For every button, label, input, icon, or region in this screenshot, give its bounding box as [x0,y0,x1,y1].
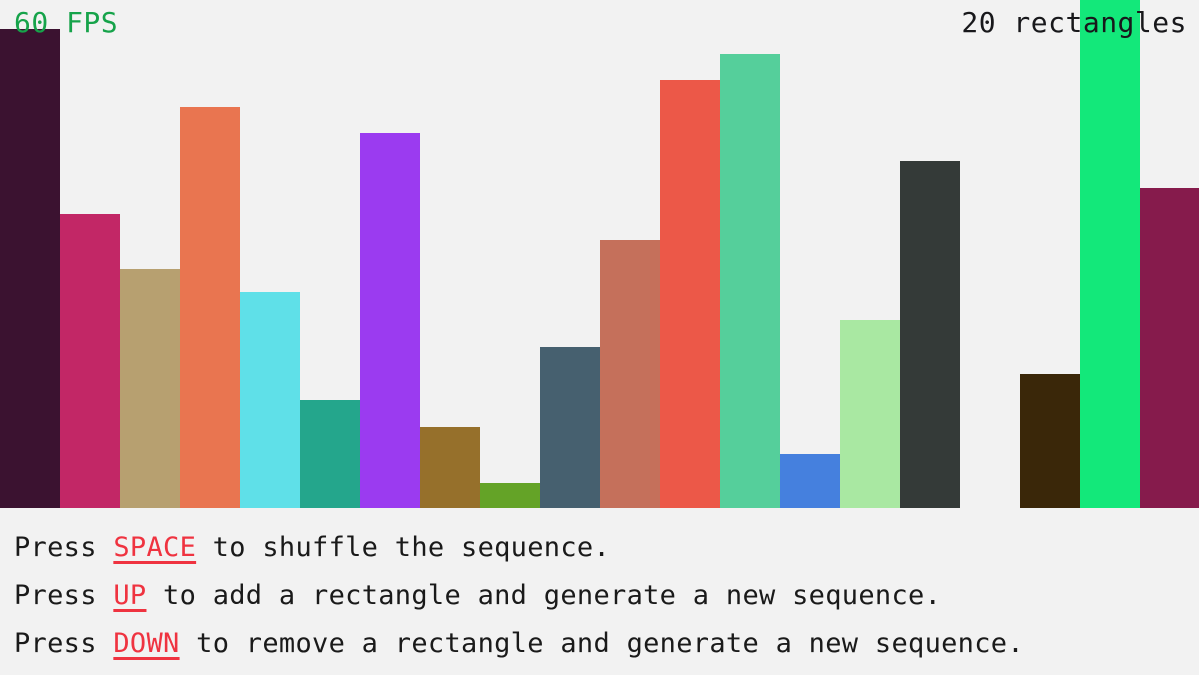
bar-rectangle [240,292,300,508]
key-hint-down[interactable]: DOWN [113,628,179,659]
bar-rectangle [1140,188,1199,508]
bar-rectangle [360,133,420,508]
bar-rectangle [60,214,120,508]
instruction-line-1: Press SPACE to shuffle the sequence. [14,524,1199,572]
bar-rectangle [780,454,840,508]
rectangle-canvas[interactable] [0,0,1199,510]
bar-rectangle [1020,374,1080,508]
bar-rectangle [840,320,900,508]
instruction-prefix: Press [14,532,113,563]
key-hint-up[interactable]: UP [113,580,146,611]
bar-rectangle [600,240,660,508]
instruction-prefix: Press [14,628,113,659]
bar-rectangle [120,269,180,508]
instruction-line-3: Press DOWN to remove a rectangle and gen… [14,620,1199,668]
instruction-prefix: Press [14,580,113,611]
bar-rectangle [0,29,60,508]
app-root: 60 FPS 20 rectangles Press SPACE to shuf… [0,0,1199,675]
instruction-suffix: to add a rectangle and generate a new se… [146,580,941,611]
bar-rectangle [660,80,720,508]
instructions-panel: Press SPACE to shuffle the sequence.Pres… [0,510,1199,675]
bar-rectangle [540,347,600,508]
bar-rectangle [720,54,780,508]
bar-rectangle [480,483,540,508]
key-hint-space[interactable]: SPACE [113,532,196,563]
fps-readout: 60 FPS [14,8,118,38]
bar-rectangle [420,427,480,508]
bar-rectangle [900,161,960,508]
instruction-suffix: to remove a rectangle and generate a new… [180,628,1024,659]
bar-rectangle [1080,0,1140,508]
bar-rectangle [180,107,240,508]
rectangle-count-readout: 20 rectangles [961,8,1187,38]
instruction-line-2: Press UP to add a rectangle and generate… [14,572,1199,620]
bar-rectangle [300,400,360,508]
instruction-suffix: to shuffle the sequence. [196,532,610,563]
